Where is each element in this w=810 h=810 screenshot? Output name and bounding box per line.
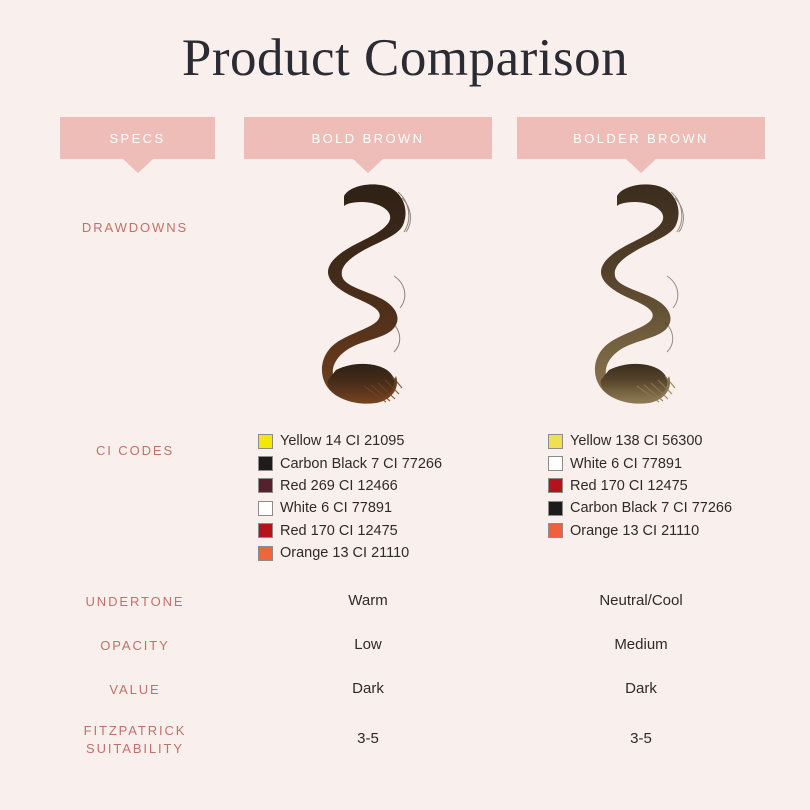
ci-code-item: Carbon Black 7 CI 77266 bbox=[258, 452, 442, 474]
ci-code-list-bold-brown: Yellow 14 CI 21095Carbon Black 7 CI 7726… bbox=[258, 430, 442, 564]
tab-specs-label: SPECS bbox=[109, 131, 165, 146]
tab-bold-brown-label: BOLD BROWN bbox=[312, 131, 425, 146]
ci-code-label: Red 170 CI 12475 bbox=[280, 523, 398, 539]
ci-code-item: Orange 13 CI 21110 bbox=[548, 520, 732, 542]
ci-code-list-bolder-brown: Yellow 138 CI 56300White 6 CI 77891Red 1… bbox=[548, 430, 732, 542]
ci-color-chip bbox=[548, 523, 563, 538]
ci-code-label: Carbon Black 7 CI 77266 bbox=[570, 500, 732, 516]
ci-color-chip bbox=[258, 478, 273, 493]
ci-code-label: Red 170 CI 12475 bbox=[570, 478, 688, 494]
opacity-value-bold-brown: Low bbox=[244, 636, 492, 653]
ci-code-label: Red 269 CI 12466 bbox=[280, 478, 398, 494]
bold-brown-drawdown-swatch bbox=[306, 180, 430, 405]
tab-pointer-icon bbox=[626, 159, 656, 173]
ci-code-label: White 6 CI 77891 bbox=[280, 500, 392, 516]
ci-code-item: White 6 CI 77891 bbox=[258, 497, 442, 519]
ci-code-label: Yellow 138 CI 56300 bbox=[570, 433, 702, 449]
tab-bolder-brown-label: BOLDER BROWN bbox=[573, 131, 709, 146]
ci-code-item: Red 170 CI 12475 bbox=[548, 475, 732, 497]
value-value-bold-brown: Dark bbox=[244, 680, 492, 697]
tab-pointer-icon bbox=[353, 159, 383, 173]
ci-code-item: White 6 CI 77891 bbox=[548, 452, 732, 474]
ci-color-chip bbox=[258, 456, 273, 471]
ci-color-chip bbox=[258, 523, 273, 538]
ci-code-label: White 6 CI 77891 bbox=[570, 456, 682, 472]
drawdown-cell-bold-brown bbox=[244, 180, 492, 410]
ci-code-item: Carbon Black 7 CI 77266 bbox=[548, 497, 732, 519]
ci-color-chip bbox=[258, 434, 273, 449]
ci-code-label: Orange 13 CI 21110 bbox=[570, 523, 699, 539]
row-label-fitzpatrick-line1: FITZPATRICK bbox=[40, 722, 230, 740]
row-label-opacity: OPACITY bbox=[40, 636, 230, 655]
ci-color-chip bbox=[258, 501, 273, 516]
undertone-value-bold-brown: Warm bbox=[244, 592, 492, 609]
row-label-fitzpatrick: FITZPATRICK SUITABILITY bbox=[40, 722, 230, 758]
row-label-ci-codes: CI CODES bbox=[40, 441, 230, 460]
row-label-drawdowns: DRAWDOWNS bbox=[40, 218, 230, 237]
ci-code-item: Orange 13 CI 21110 bbox=[258, 542, 442, 564]
ci-color-chip bbox=[548, 501, 563, 516]
row-drawdowns: DRAWDOWNS bbox=[0, 180, 810, 410]
opacity-value-bolder-brown: Medium bbox=[517, 636, 765, 653]
ci-color-chip bbox=[548, 434, 563, 449]
ci-code-label: Carbon Black 7 CI 77266 bbox=[280, 456, 442, 472]
ci-code-label: Yellow 14 CI 21095 bbox=[280, 433, 404, 449]
fitzpatrick-value-bolder-brown: 3-5 bbox=[517, 730, 765, 747]
tab-bold-brown[interactable]: BOLD BROWN bbox=[244, 117, 492, 159]
tab-pointer-icon bbox=[123, 159, 153, 173]
tab-bolder-brown[interactable]: BOLDER BROWN bbox=[517, 117, 765, 159]
fitzpatrick-value-bold-brown: 3-5 bbox=[244, 730, 492, 747]
ci-code-item: Yellow 138 CI 56300 bbox=[548, 430, 732, 452]
ci-color-chip bbox=[548, 478, 563, 493]
tab-specs[interactable]: SPECS bbox=[60, 117, 215, 159]
ci-code-item: Red 269 CI 12466 bbox=[258, 475, 442, 497]
drawdown-cell-bolder-brown bbox=[517, 180, 765, 410]
ci-color-chip bbox=[258, 546, 273, 561]
value-value-bolder-brown: Dark bbox=[517, 680, 765, 697]
page-title: Product Comparison bbox=[0, 26, 810, 90]
undertone-value-bolder-brown: Neutral/Cool bbox=[517, 592, 765, 609]
row-ci-codes: CI CODES Yellow 14 CI 21095Carbon Black … bbox=[0, 430, 810, 570]
bolder-brown-drawdown-swatch bbox=[579, 180, 703, 405]
ci-color-chip bbox=[548, 456, 563, 471]
header-tabs: SPECS BOLD BROWN BOLDER BROWN bbox=[0, 117, 810, 177]
ci-code-item: Red 170 CI 12475 bbox=[258, 520, 442, 542]
row-label-fitzpatrick-line2: SUITABILITY bbox=[40, 740, 230, 758]
row-label-value: VALUE bbox=[40, 680, 230, 699]
row-label-undertone: UNDERTONE bbox=[40, 592, 230, 611]
ci-code-item: Yellow 14 CI 21095 bbox=[258, 430, 442, 452]
ci-code-label: Orange 13 CI 21110 bbox=[280, 545, 409, 561]
